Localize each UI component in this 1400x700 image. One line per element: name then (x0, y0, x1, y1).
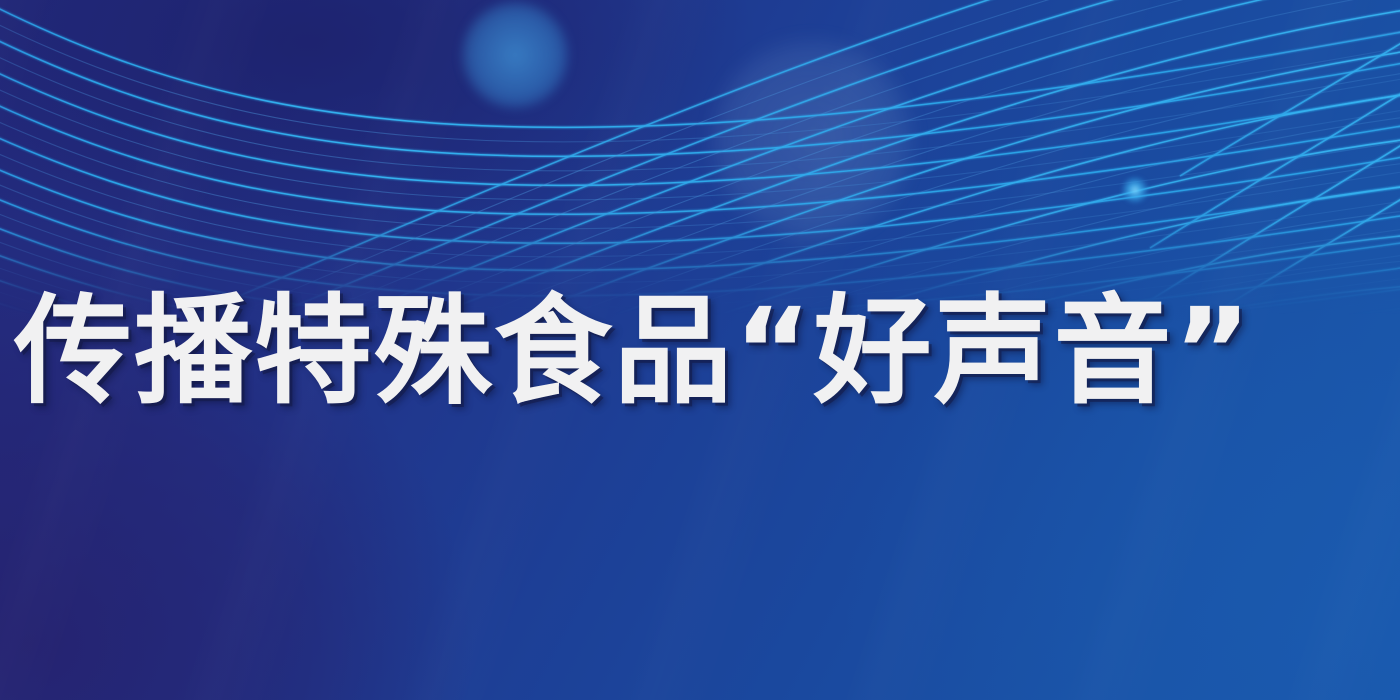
banner-root: 传播特殊食品“好声音” (0, 0, 1400, 700)
title-container: 传播特殊食品“好声音” (0, 281, 1400, 421)
banner-title: 传播特殊食品“好声音” (0, 290, 1253, 413)
